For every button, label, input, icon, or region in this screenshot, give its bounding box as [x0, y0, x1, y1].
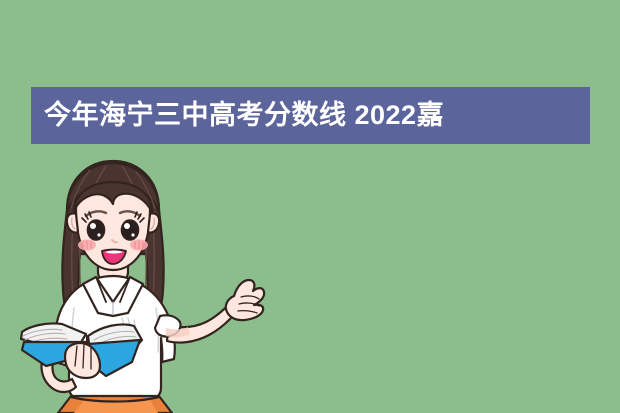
ear-right — [148, 213, 159, 232]
schoolgirl-svg — [10, 150, 270, 413]
ear-left — [67, 213, 78, 232]
eye-left — [88, 220, 105, 240]
page-title: 今年海宁三中高考分数线 2022嘉 — [44, 102, 444, 129]
illustration-schoolgirl — [10, 150, 270, 413]
eye-right — [122, 220, 139, 240]
title-banner: 今年海宁三中高考分数线 2022嘉 — [31, 87, 590, 144]
hand-open-palm — [226, 280, 264, 320]
page-canvas: 今年海宁三中高考分数线 2022嘉 — [0, 0, 620, 413]
